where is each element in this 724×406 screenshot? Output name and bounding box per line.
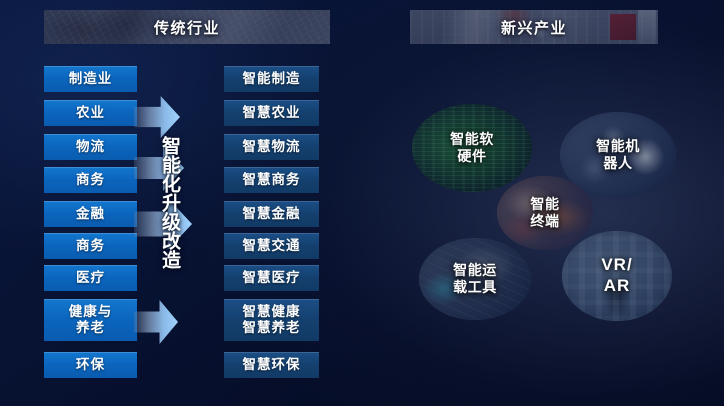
traditional-industry-box: 商务 [44, 167, 137, 193]
traditional-industry-box: 环保 [44, 352, 137, 378]
traditional-industry-box: 农业 [44, 100, 137, 126]
transformation-arrow-icon [134, 300, 178, 344]
smart-industry-box: 智慧环保 [224, 352, 319, 378]
smart-industry-box: 智慧健康智慧养老 [224, 299, 319, 341]
smart-industry-box: 智慧金融 [224, 201, 319, 227]
traditional-industry-box: 物流 [44, 134, 137, 160]
emerging-industry-label: 智能运载工具 [453, 262, 497, 296]
smart-industry-box: 智慧农业 [224, 100, 319, 126]
process-label-vertical: 智能化升级改造 [155, 136, 179, 269]
banner-emerging-industry: 新兴产业 [410, 10, 658, 44]
emerging-industry-label: 智能软硬件 [450, 131, 494, 165]
traditional-industry-box: 金融 [44, 201, 137, 227]
emerging-industry-bubble: 智能运载工具 [419, 238, 531, 320]
traditional-industry-box: 商务 [44, 233, 137, 259]
smart-industry-box: 智慧医疗 [224, 265, 319, 291]
emerging-industry-label: 智能机器人 [596, 138, 640, 172]
presentation-slide: 传统行业 新兴产业 制造业农业物流商务金融商务医疗健康与养老环保 智能制造智慧农… [0, 0, 724, 406]
traditional-industry-box: 健康与养老 [44, 299, 137, 341]
smart-industry-box: 智慧物流 [224, 134, 319, 160]
smart-industry-box: 智能制造 [224, 66, 319, 92]
smart-industry-box: 智慧商务 [224, 167, 319, 193]
emerging-industry-label: 智能终端 [530, 196, 559, 230]
banner-emerging-label: 新兴产业 [501, 17, 567, 38]
banner-traditional-industry: 传统行业 [44, 10, 330, 44]
smart-industry-box: 智慧交通 [224, 233, 319, 259]
traditional-industry-box: 制造业 [44, 66, 137, 92]
transformation-arrow-icon [134, 96, 180, 138]
traditional-industry-box: 医疗 [44, 265, 137, 291]
banner-traditional-label: 传统行业 [154, 17, 220, 38]
emerging-industry-bubble: VR/AR [562, 231, 672, 321]
emerging-industry-label: VR/AR [601, 255, 632, 296]
